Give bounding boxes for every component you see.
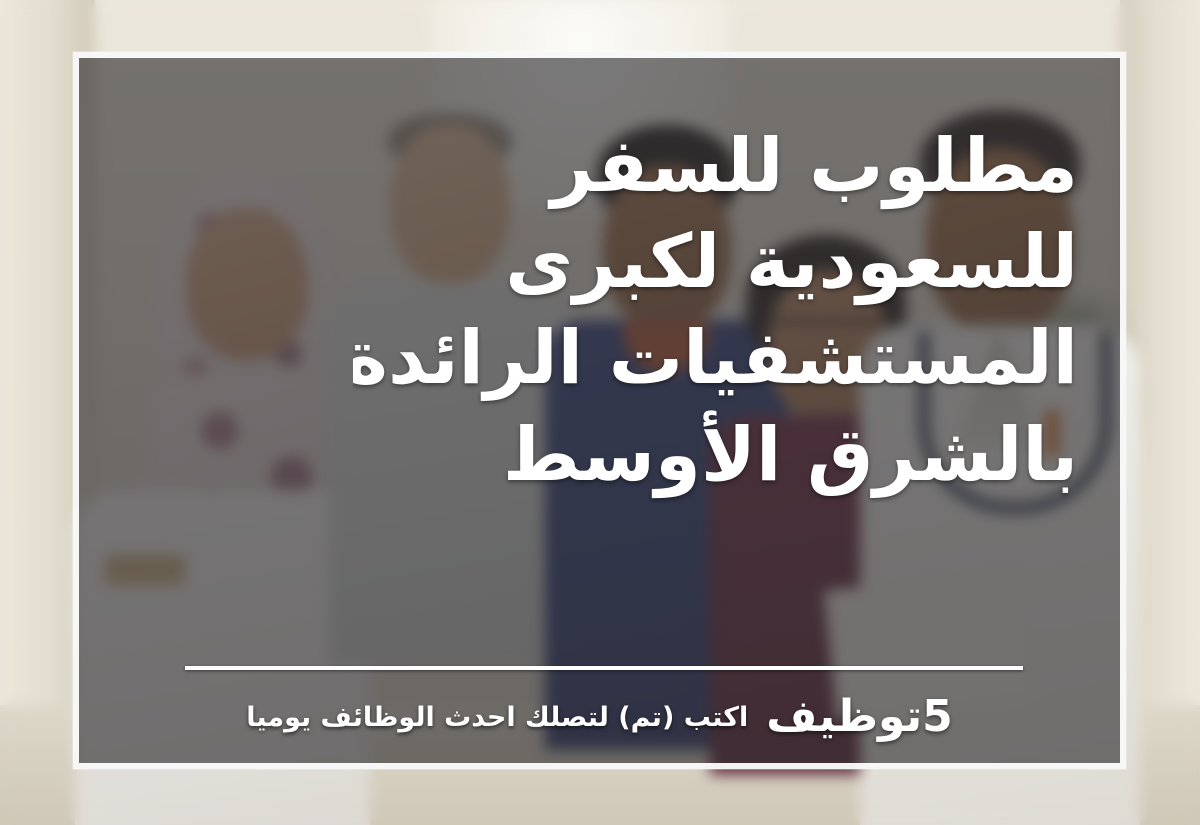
overlay-card: مطلوب للسفر للسعودية لكبرى المستشفيات ال… [73,52,1126,769]
headline-line-3: المستشفيات الرائدة [353,310,1078,406]
horizontal-divider [185,666,1023,670]
call-to-action-text: اكتب (تم) لتصلك احدث الوظائف يوميا [246,704,748,731]
headline-line-2: للسعودية لكبرى [353,214,1078,310]
overlay-card-inner: مطلوب للسفر للسعودية لكبرى المستشفيات ال… [79,58,1120,763]
brand-logo-text: 5توظيف [766,695,953,739]
headline-text: مطلوب للسفر للسعودية لكبرى المستشفيات ال… [353,118,1078,503]
footer-bar: 5توظيف اكتب (تم) لتصلك احدث الوظائف يومي… [79,682,1120,752]
headline-line-4: بالشرق الأوسط [353,407,1078,503]
poster-canvas: مطلوب للسفر للسعودية لكبرى المستشفيات ال… [0,0,1200,825]
headline-line-1: مطلوب للسفر [353,118,1078,214]
